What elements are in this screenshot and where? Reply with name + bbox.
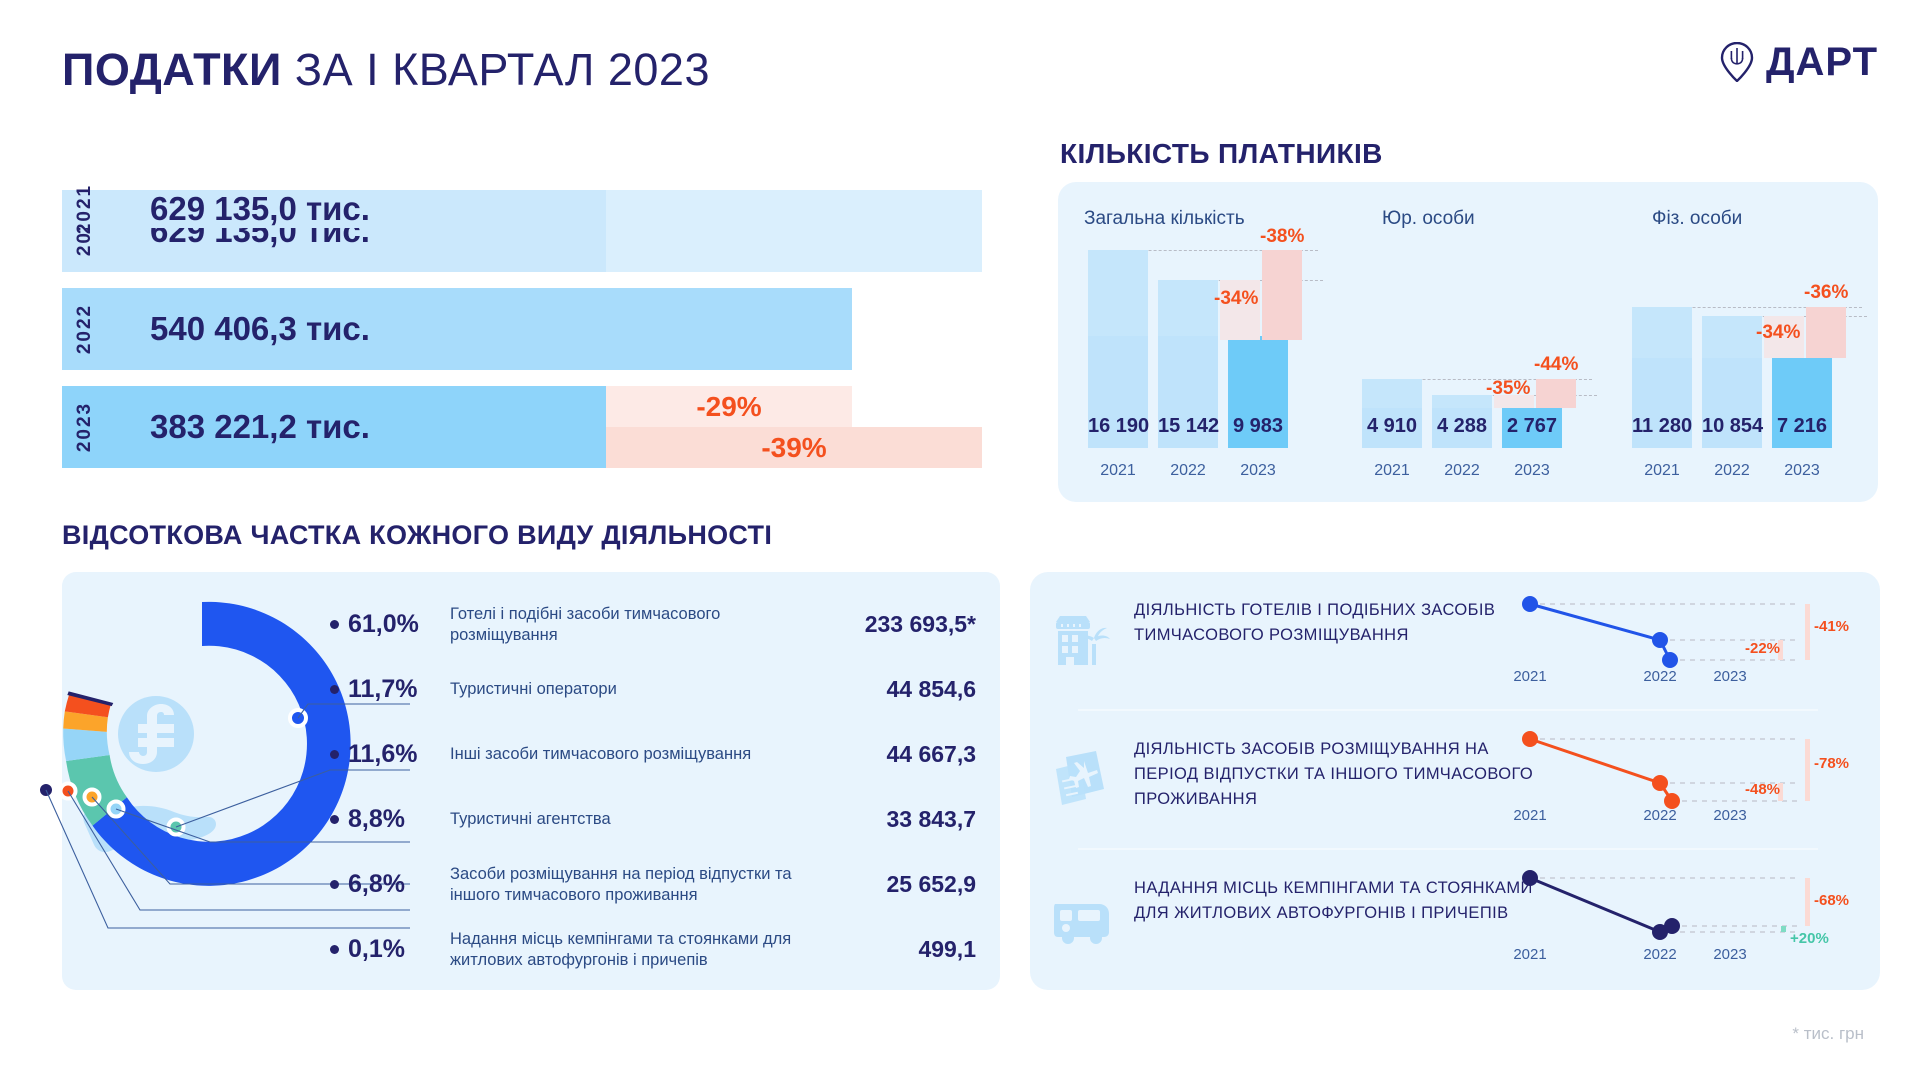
legend-bullet-icon: [330, 685, 339, 694]
legend-item: 11,7% Туристичні оператори 44 854,6: [330, 657, 1000, 722]
legend-bullet-icon: [330, 815, 339, 824]
payers-gap-pct: -35%: [1486, 378, 1530, 400]
legend-label: Надання місць кемпінгами та стоянками дл…: [436, 929, 796, 971]
page-title-bold: ПОДАТКИ: [62, 44, 282, 95]
legend-item: 11,6% Інші засоби тимчасового розміщуван…: [330, 722, 1000, 787]
payers-bar-legal-2022: 4 288: [1432, 395, 1492, 448]
brand-logo: ДАРТ: [1720, 42, 1878, 82]
tax-bar-year-2022: 2022: [62, 318, 108, 340]
payers-gap-pct: -44%: [1534, 354, 1578, 376]
tax-delta-vs-2021: -39%: [606, 427, 982, 468]
trend-label-vacation: ДІЯЛЬНІСТЬ ЗАСОБІВ РОЗМІЩУВАННЯ НА ПЕРІО…: [1134, 737, 1534, 812]
tax-bar-value-2023: 383 221,2 тис.: [108, 408, 370, 446]
tax-revenue-bar-chart: 2021 629 135,0 тис. 2021 629 135,0 тис. …: [62, 190, 982, 480]
legend-bullet-icon: [330, 750, 339, 759]
legend-percent: 11,6%: [348, 740, 436, 769]
payers-value: 15 142: [1158, 415, 1218, 438]
payers-panel: Загальна кількість 16 190 2021 15 142 20…: [1058, 182, 1878, 502]
camper-van-icon: [1052, 886, 1118, 948]
payers-year-label: 2023: [1496, 462, 1568, 480]
trend-panel: ДІЯЛЬНІСТЬ ГОТЕЛІВ І ПОДІБНИХ ЗАСОБІВ ТИ…: [1030, 572, 1880, 990]
tax-bar-value-label-2021: 629 135,0 тис.: [108, 190, 370, 228]
legend-value: 25 652,9: [796, 871, 976, 898]
tax-bar-row-2023: 2023 383 221,2 тис.: [62, 386, 606, 468]
payers-bar-total-2021: 16 190: [1088, 250, 1148, 448]
payers-value: 4 288: [1432, 415, 1492, 438]
payers-year-label: 2022: [1152, 462, 1224, 480]
footnote: * тис. грн: [1792, 1024, 1864, 1044]
legend-percent: 6,8%: [348, 870, 436, 899]
trend-plot-campsites: 2021 2022 2023 +20% -68%: [1500, 860, 1870, 980]
payers-bar-legal-2021: 4 910: [1362, 379, 1422, 448]
trend-annotation: +20%: [1790, 930, 1829, 947]
legend-bullet-icon: [330, 880, 339, 889]
payers-bar-legal-2023: 2 767: [1502, 408, 1562, 448]
payers-year-label: 2021: [1626, 462, 1698, 480]
payers-gap-pct: -38%: [1260, 226, 1304, 248]
payers-gap-pct: -36%: [1804, 282, 1848, 304]
trend-year-label: 2021: [1500, 668, 1560, 685]
legend-value: 499,1: [796, 936, 976, 963]
brand-logo-text: ДАРТ: [1766, 42, 1878, 82]
trend-row-campsites: НАДАННЯ МІСЦЬ КЕМПІНГАМИ ТА СТОЯНКАМИ ДЛ…: [1030, 850, 1880, 989]
page-title-light: ЗА I КВАРТАЛ 2023: [295, 44, 710, 95]
tax-bar-row-2022: 2022 540 406,3 тис.: [62, 288, 852, 370]
legend-bullet-icon: [330, 620, 339, 629]
trend-label-campsites: НАДАННЯ МІСЦЬ КЕМПІНГАМИ ТА СТОЯНКАМИ ДЛ…: [1134, 876, 1534, 926]
payers-gap-block: [1536, 379, 1576, 408]
payers-year-label: 2021: [1356, 462, 1428, 480]
tax-bar-row-2021: 2021 629 135,0 тис. 2021 629 135,0 тис.: [62, 190, 982, 272]
payers-bar-individual-2021: 11 280: [1632, 307, 1692, 448]
trend-plot-vacation: 2021 2022 2023 -48% -78%: [1500, 721, 1870, 841]
airline-tickets-icon: [1052, 747, 1118, 809]
legend-percent: 11,7%: [348, 675, 436, 704]
payers-value: 7 216: [1772, 415, 1832, 438]
trend-year-label: 2022: [1630, 946, 1690, 963]
payers-value: 9 983: [1228, 415, 1288, 438]
page-header: ПОДАТКИ ЗА I КВАРТАЛ 2023 ДАРТ: [0, 0, 1920, 130]
share-legend: 61,0% Готелі і подібні засоби тимчасовог…: [330, 592, 1000, 982]
trend-year-label: 2022: [1630, 668, 1690, 685]
trend-label-hotels: ДІЯЛЬНІСТЬ ГОТЕЛІВ І ПОДІБНИХ ЗАСОБІВ ТИ…: [1134, 598, 1534, 648]
legend-label: Готелі і подібні засоби тимчасового розм…: [436, 604, 796, 646]
legend-value: 44 667,3: [796, 741, 976, 768]
payers-group-total: Загальна кількість 16 190 2021 15 142 20…: [1084, 182, 1344, 502]
payers-section-title: КІЛЬКІСТЬ ПЛАТНИКІВ: [1060, 138, 1383, 170]
payers-value: 10 854: [1702, 415, 1762, 438]
legend-label: Туристичні оператори: [436, 679, 796, 700]
legend-percent: 61,0%: [348, 610, 436, 639]
trend-year-label: 2021: [1500, 807, 1560, 824]
payers-year-label: 2022: [1696, 462, 1768, 480]
legend-label: Туристичні агентства: [436, 809, 796, 830]
share-section-title: ВІДСОТКОВА ЧАСТКА КОЖНОГО ВИДУ ДІЯЛЬНОСТ…: [62, 520, 772, 551]
payers-group-individual: Фіз. особи 11 280 2021 10 854 2022 7 216…: [1628, 182, 1888, 502]
payers-year-label: 2023: [1222, 462, 1294, 480]
hotel-building-icon: [1052, 608, 1118, 670]
trend-year-label: 2022: [1630, 807, 1690, 824]
trend-annotation: -41%: [1814, 618, 1849, 635]
infographic-page: ПОДАТКИ ЗА I КВАРТАЛ 2023 ДАРТ 2021: [0, 0, 1920, 1081]
map-pin-trident-icon: [1720, 42, 1754, 82]
legend-item: 8,8% Туристичні агентства 33 843,7: [330, 787, 1000, 852]
legend-value: 233 693,5*: [796, 611, 976, 638]
payers-group-label-total: Загальна кількість: [1084, 208, 1245, 230]
legend-label: Інші засоби тимчасового розміщування: [436, 744, 796, 765]
trend-annotation: -22%: [1745, 640, 1780, 657]
legend-percent: 0,1%: [348, 935, 436, 964]
payers-group-label-legal: Юр. особи: [1382, 208, 1475, 230]
payers-bar-total-2023: 9 983: [1228, 336, 1288, 448]
payers-group-label-individual: Фіз. особи: [1652, 208, 1742, 230]
trend-annotation: -78%: [1814, 755, 1849, 772]
payers-value: 2 767: [1502, 415, 1562, 438]
payers-year-label: 2023: [1766, 462, 1838, 480]
trend-year-label: 2021: [1500, 946, 1560, 963]
trend-row-vacation: ДІЯЛЬНІСТЬ ЗАСОБІВ РОЗМІЩУВАННЯ НА ПЕРІО…: [1030, 711, 1880, 850]
trend-row-hotels: ДІЯЛЬНІСТЬ ГОТЕЛІВ І ПОДІБНИХ ЗАСОБІВ ТИ…: [1030, 572, 1880, 711]
legend-bullet-icon: [330, 945, 339, 954]
payers-year-label: 2022: [1426, 462, 1498, 480]
payers-value: 16 190: [1088, 415, 1148, 438]
payers-gap-block: [1806, 307, 1846, 358]
tax-delta-vs-2022: -29%: [606, 386, 852, 427]
trend-year-label: 2023: [1700, 807, 1760, 824]
legend-item: 6,8% Засоби розміщування на період відпу…: [330, 852, 1000, 917]
payers-gap-pct: -34%: [1214, 288, 1258, 310]
payers-group-legal: Юр. особи 4 910 2021 4 288 2022 2 767 20…: [1358, 182, 1618, 502]
tax-bar-value-2022: 540 406,3 тис.: [108, 310, 370, 348]
trend-annotation: -48%: [1745, 781, 1780, 798]
trend-annotation: -68%: [1814, 892, 1849, 909]
trend-year-label: 2023: [1700, 946, 1760, 963]
payers-gap-block: [1262, 250, 1302, 340]
trend-plot-hotels: 2021 2022 2023 -22% -41%: [1500, 582, 1870, 702]
payers-value: 11 280: [1632, 415, 1692, 438]
payers-gap-pct: -34%: [1756, 322, 1800, 344]
page-title: ПОДАТКИ ЗА I КВАРТАЛ 2023: [62, 44, 710, 96]
payers-value: 4 910: [1362, 415, 1422, 438]
legend-label: Засоби розміщування на період відпустки …: [436, 864, 796, 906]
legend-value: 33 843,7: [796, 806, 976, 833]
legend-value: 44 854,6: [796, 676, 976, 703]
tax-bar-year-2023: 2023: [62, 416, 108, 438]
payers-bar-individual-2023: 7 216: [1772, 358, 1832, 448]
legend-item: 0,1% Надання місць кемпінгами та стоянка…: [330, 917, 1000, 982]
payers-bar-total-2022: 15 142: [1158, 280, 1218, 448]
trend-year-label: 2023: [1700, 668, 1760, 685]
legend-item: 61,0% Готелі і подібні засоби тимчасовог…: [330, 592, 1000, 657]
tax-bar-year-2021: 2021: [62, 198, 108, 220]
payers-bar-individual-2022: 10 854: [1702, 316, 1762, 448]
payers-year-label: 2021: [1082, 462, 1154, 480]
legend-percent: 8,8%: [348, 805, 436, 834]
